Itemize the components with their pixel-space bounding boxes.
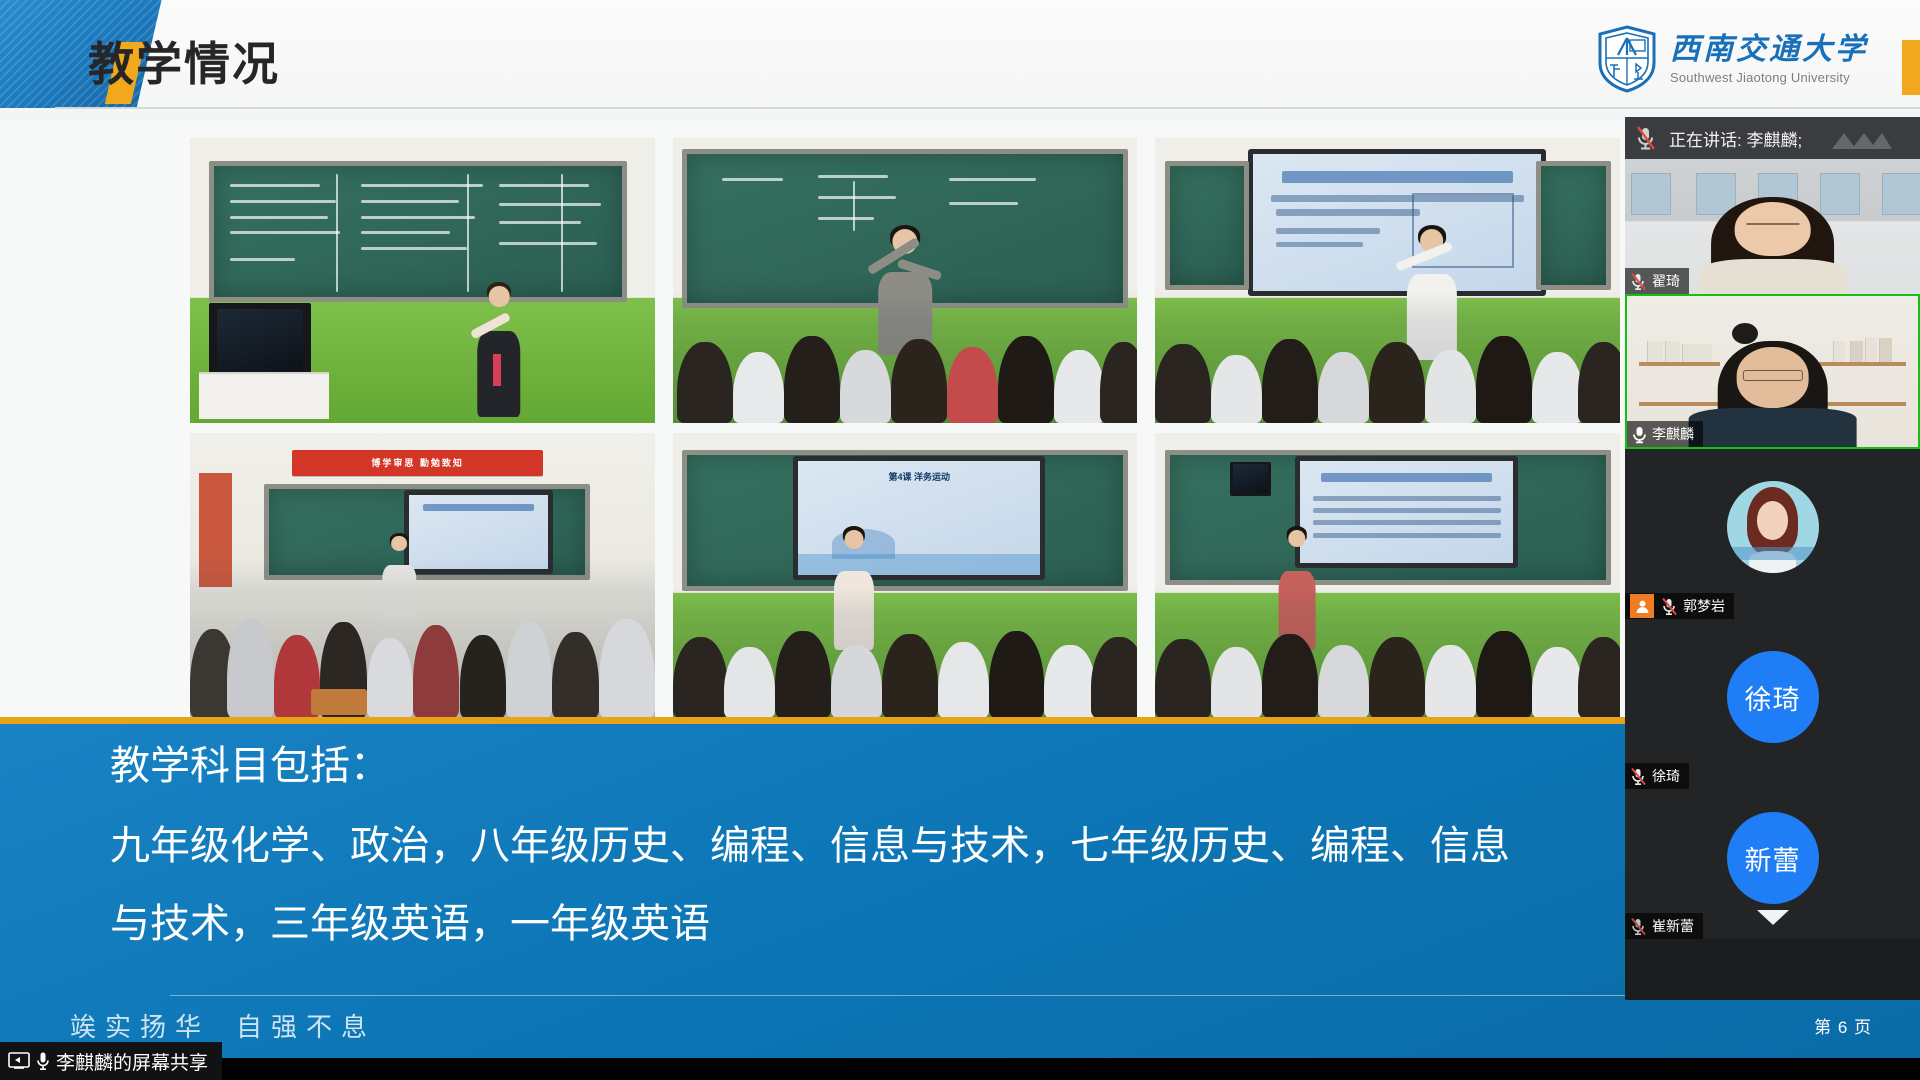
mic-muted-icon (1630, 917, 1647, 936)
photo-6 (1155, 433, 1620, 718)
video-sidebar: 正在讲话: 李麒麟; (1625, 117, 1920, 1000)
footer-divider (170, 995, 1740, 996)
classroom-banner-text: 博学审思 勤勉致知 (292, 450, 543, 476)
header-orange-tab (1902, 40, 1920, 95)
network-signal-icon (1830, 127, 1892, 151)
photo-3 (1155, 138, 1620, 423)
participant-name-chip: 徐琦 (1625, 763, 1689, 789)
participant-name: 李麒麟 (1652, 424, 1694, 444)
photo-5: 第4课 洋务运动 (673, 433, 1138, 718)
screen-share-icon (8, 1052, 30, 1070)
mic-muted-icon (1630, 767, 1647, 786)
participant-name: 翟琦 (1652, 271, 1680, 291)
participant-name-chip: 崔新蕾 (1625, 913, 1703, 939)
participant-tile-zhaiqi[interactable]: 翟琦 (1625, 159, 1920, 294)
active-speaker-bar: 正在讲话: 李麒麟; (1625, 117, 1920, 159)
scroll-down-button[interactable] (1753, 906, 1793, 933)
header-divider (55, 107, 1920, 109)
logo-name-cn: 西南交通大学 (1670, 35, 1868, 65)
screen-share-window: 教学情况 西南交通大学 Southwest Jiaotong Universit… (0, 0, 1920, 1080)
window-bottom-strip (0, 1058, 1920, 1080)
page-title: 教学情况 (88, 28, 280, 94)
university-shield-icon (1596, 25, 1658, 93)
avatar (1727, 481, 1819, 573)
mic-muted-icon (1661, 597, 1678, 616)
participant-name-chip: 李麒麟 (1627, 421, 1703, 447)
logo-name-en: Southwest Jiaotong University (1670, 71, 1868, 84)
mic-icon (36, 1051, 50, 1071)
mic-muted-icon[interactable] (1635, 125, 1657, 151)
page-number: 第 6 页 (1814, 1013, 1872, 1038)
motto-part-1: 竢实扬华 (70, 1013, 210, 1043)
participant-name-chip: 郭梦岩 (1625, 593, 1734, 619)
participant-name: 郭梦岩 (1683, 596, 1725, 616)
participant-name: 崔新蕾 (1652, 916, 1694, 936)
motto-part-2: 自强不息 (236, 1013, 376, 1043)
participant-name-chip: 翟琦 (1625, 268, 1689, 294)
participant-tile-xuqi[interactable]: 徐琦 徐琦 (1625, 619, 1920, 789)
participant-tile-guomengyan[interactable]: 郭梦岩 (1625, 449, 1920, 619)
university-motto: 竢实扬华自强不息 (70, 1007, 402, 1044)
photo-2 (673, 138, 1138, 423)
avatar: 徐琦 (1727, 651, 1819, 743)
mic-muted-icon (1630, 272, 1647, 291)
slide-header: 教学情况 西南交通大学 Southwest Jiaotong Universit… (0, 0, 1920, 120)
university-logo: 西南交通大学 Southwest Jiaotong University (1596, 25, 1868, 93)
participant-tile-cuixinlei[interactable]: 新蕾 崔新蕾 (1625, 789, 1920, 939)
participant-name: 徐琦 (1652, 766, 1680, 786)
host-icon (1630, 594, 1654, 618)
active-speaker-text: 正在讲话: 李麒麟; (1669, 126, 1802, 151)
photo-grid: 博学审思 勤勉致知 (190, 138, 1620, 718)
screen-share-badge[interactable]: 李麒麟的屏幕共享 (0, 1042, 222, 1080)
mic-icon (1632, 425, 1647, 444)
lesson-title-on-screen: 第4课 洋务运动 (798, 470, 1040, 483)
avatar: 新蕾 (1727, 812, 1819, 904)
photo-1 (190, 138, 655, 423)
participant-tile-liqilin[interactable]: 李麒麟 (1625, 294, 1920, 449)
photo-4: 博学审思 勤勉致知 (190, 433, 655, 718)
chevron-down-icon (1753, 906, 1793, 928)
screen-share-label: 李麒麟的屏幕共享 (56, 1048, 208, 1075)
